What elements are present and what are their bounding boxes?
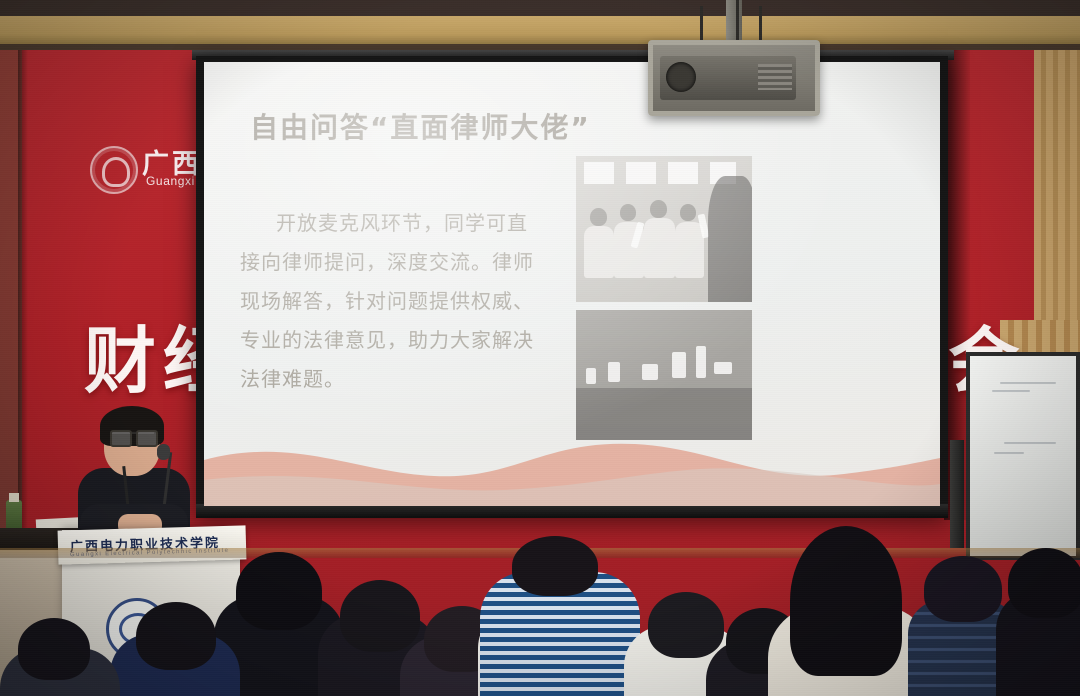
projector-vent (758, 64, 792, 90)
audience-head (924, 556, 1002, 622)
audience-head (790, 526, 902, 676)
university-seal-icon (90, 146, 138, 194)
presentation-slide: 自由问答“直面律师大佬” 开放麦克风环节，同学可直接向律师提问，深度交流。律师现… (204, 62, 940, 506)
projector-lens-icon (666, 62, 696, 92)
audience-head (340, 580, 420, 652)
audience-head (1008, 548, 1080, 618)
whiteboard (970, 356, 1076, 556)
screen-bottom-bar (196, 504, 948, 518)
audience-head (236, 552, 322, 630)
whiteboard-stand (950, 440, 964, 548)
microphone-head-icon (157, 444, 170, 460)
audience-head (136, 602, 216, 670)
wall-wood-panel (1034, 50, 1080, 350)
audience-head (512, 536, 598, 596)
bottle-cap (9, 493, 19, 502)
speaker-glasses-lens-left (110, 430, 132, 447)
speaker-glasses-lens-right (136, 430, 158, 447)
banner-org-en: Guangxi (146, 174, 195, 188)
lecture-hall-photo: 广西 Guangxi 砺能敏行 息 财经 欢送会 自由问答“直面律师大佬” 开放… (0, 0, 1080, 696)
audience-head (18, 618, 90, 680)
wall-edge-shadow (18, 50, 28, 550)
slide-glare (204, 62, 940, 506)
ceiling-wood-beam (0, 16, 1080, 46)
audience-head (648, 592, 724, 658)
